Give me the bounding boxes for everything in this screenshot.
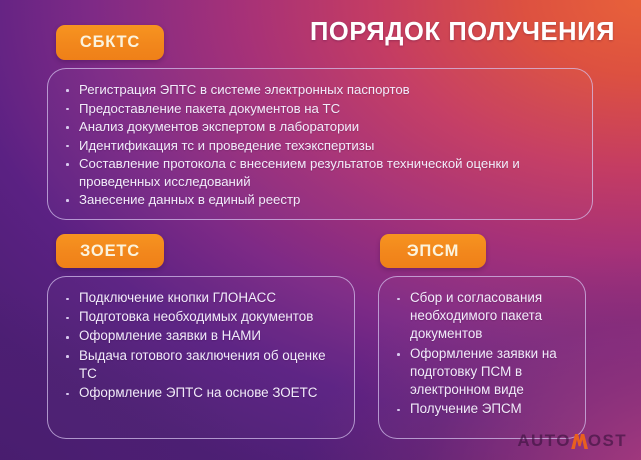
list-item: Подключение кнопки ГЛОНАСС: [64, 289, 340, 307]
list-item: Идентификация тс и проведение техэксперт…: [64, 137, 576, 155]
list-item: Составление протокола с внесением резуль…: [64, 155, 576, 190]
list-item: Оформление заявки в НАМИ: [64, 327, 340, 345]
card-zoets: Подключение кнопки ГЛОНАСС Подготовка не…: [47, 276, 355, 439]
badge-epsm: ЭПСМ: [380, 234, 486, 268]
list-item: Анализ документов экспертом в лаборатори…: [64, 118, 576, 136]
list-item: Оформление заявки на подготовку ПСМ в эл…: [395, 345, 573, 400]
list-item: Сбор и согласования необходимого пакета …: [395, 289, 573, 344]
infographic-poster: ПОРЯДОК ПОЛУЧЕНИЯ СБКТС Регистрация ЭПТС…: [0, 0, 641, 460]
list-item: Регистрация ЭПТС в системе электронных п…: [64, 81, 576, 99]
list-item: Получение ЭПСМ: [395, 400, 573, 418]
list-item: Занесение данных в единый реестр: [64, 191, 576, 209]
watermark-automost: AUTO OST: [517, 431, 627, 451]
card-epsm: Сбор и согласования необходимого пакета …: [378, 276, 586, 439]
list-item: Подготовка необходимых документов: [64, 308, 340, 326]
watermark-text-before: AUTO: [517, 431, 570, 451]
list-item: Оформление ЭПТС на основе ЗОЕТС: [64, 384, 340, 402]
list-item: Предоставление пакета документов на ТС: [64, 100, 576, 118]
card-sbkts: Регистрация ЭПТС в системе электронных п…: [47, 68, 593, 220]
bullet-list-zoets: Подключение кнопки ГЛОНАСС Подготовка не…: [48, 277, 354, 402]
badge-sbkts: СБКТС: [56, 25, 164, 60]
list-item: Выдача готового заключения об оценке ТС: [64, 347, 340, 383]
bullet-list-epsm: Сбор и согласования необходимого пакета …: [379, 277, 585, 418]
badge-zoets: ЗОЕТС: [56, 234, 164, 268]
watermark-text-after: OST: [588, 431, 627, 451]
page-title: ПОРЯДОК ПОЛУЧЕНИЯ: [310, 20, 615, 46]
bullet-list-sbkts: Регистрация ЭПТС в системе электронных п…: [48, 69, 592, 209]
automost-m-icon: [570, 433, 589, 450]
